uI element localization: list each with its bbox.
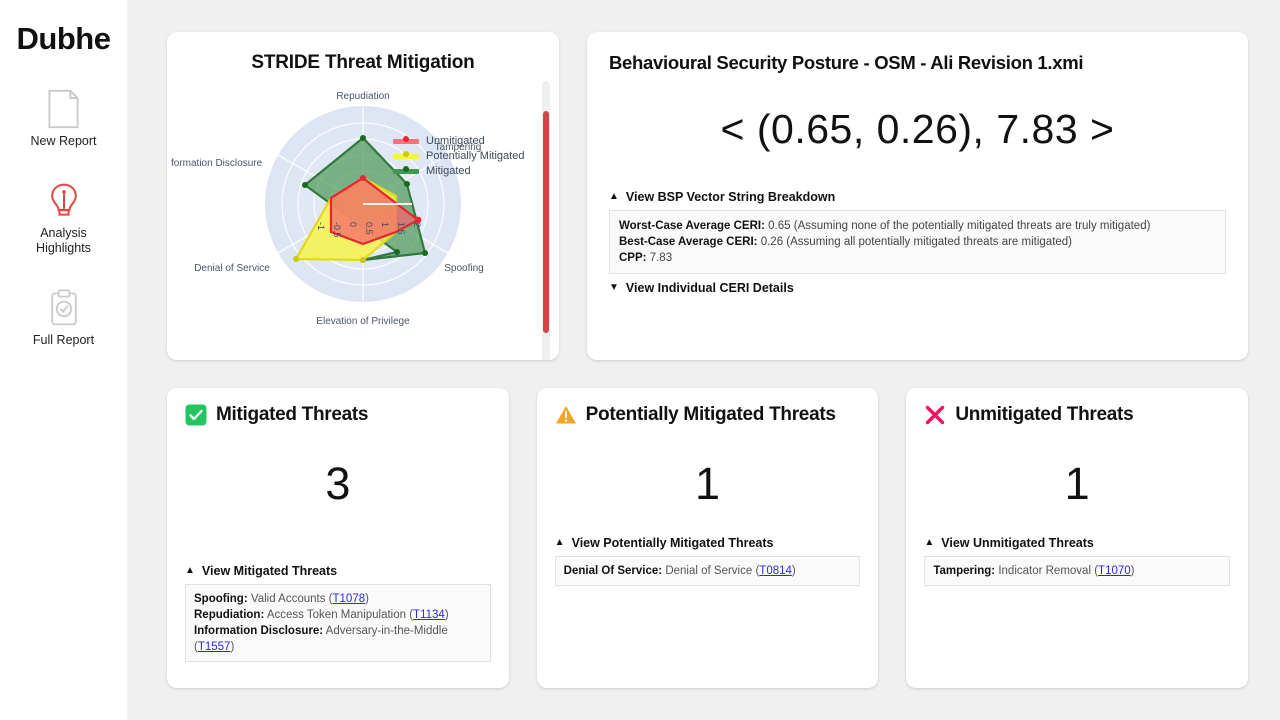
threat-name: Denial of Service: [665, 565, 752, 577]
main-content: STRIDE Threat Mitigation: [127, 0, 1280, 720]
warning-triangle-icon: [555, 404, 577, 426]
bsp-title: Behavioural Security Posture - OSM - Ali…: [609, 52, 1226, 74]
list-item: Spoofing: Valid Accounts (T1078): [194, 591, 482, 607]
list-item: Tampering: Indicator Removal (T1070): [933, 563, 1221, 579]
triangle-up-icon: ▲: [555, 538, 565, 548]
bsp-breakdown-row: CPP: 7.83: [619, 250, 1216, 266]
threat-category: Information Disclosure: [194, 625, 319, 637]
toggle-label: View Mitigated Threats: [202, 564, 337, 578]
sidebar-item-label-line1: Analysis: [40, 226, 87, 240]
toggle-label: View Individual CERI Details: [626, 281, 794, 295]
bsp-metric-label: CPP: [619, 252, 643, 264]
card-title: Mitigated Threats: [216, 404, 368, 426]
unmitigated-threats-card: Unmitigated Threats 1 ▲ View Unmitigated…: [906, 388, 1248, 688]
chart-scrollbar-track[interactable]: [542, 81, 550, 360]
bsp-metric-value: 0.65: [768, 220, 790, 232]
svg-text:-1: -1: [316, 222, 326, 230]
bsp-card: Behavioural Security Posture - OSM - Ali…: [587, 32, 1248, 360]
bsp-metric-label: Worst-Case Average CERI: [619, 220, 761, 232]
bsp-breakdown-section: ▲ View BSP Vector String Breakdown Worst…: [609, 190, 1226, 295]
legend-label: Potentially Mitigated: [426, 150, 524, 162]
toggle-view-mitigated-threats[interactable]: ▲ View Mitigated Threats: [185, 564, 491, 578]
legend-swatch-icon: [393, 154, 419, 159]
chart-scrollbar-thumb[interactable]: [543, 111, 549, 333]
threat-name: Indicator Removal: [998, 565, 1091, 577]
threat-count: 3: [185, 458, 491, 510]
card-footer: ▲ View Unmitigated Threats Tampering: In…: [924, 536, 1230, 602]
legend-swatch-icon: [393, 139, 419, 144]
document-icon: [45, 89, 83, 129]
threat-category: Repudiation: [194, 609, 260, 621]
threat-list: Spoofing: Valid Accounts (T1078) Repudia…: [185, 584, 491, 662]
list-item: Information Disclosure: Adversary-in-the…: [194, 623, 482, 655]
legend-label: Mitigated: [426, 165, 471, 177]
threat-name: Adversary-in-the-Middle: [326, 625, 448, 637]
triangle-up-icon: ▲: [185, 566, 195, 576]
top-row: STRIDE Threat Mitigation: [167, 32, 1248, 360]
card-header: Mitigated Threats: [185, 404, 491, 426]
technique-link[interactable]: T1070: [1098, 565, 1131, 577]
svg-text:2: 2: [412, 222, 422, 227]
bsp-breakdown-row: Worst-Case Average CERI: 0.65 (Assuming …: [619, 218, 1216, 234]
svg-text:1: 1: [380, 222, 390, 227]
toggle-label: View Unmitigated Threats: [941, 536, 1094, 550]
threat-list: Denial Of Service: Denial of Service (T0…: [555, 556, 861, 586]
check-square-icon: [185, 404, 207, 426]
svg-text:Spoofing: Spoofing: [444, 263, 483, 274]
mitigated-threats-card: Mitigated Threats 3 ▲ View Mitigated Thr…: [167, 388, 509, 688]
clipboard-check-icon: [45, 288, 83, 328]
bsp-metric-note: (Assuming all potentially mitigated thre…: [786, 236, 1072, 248]
technique-link[interactable]: T0814: [759, 565, 792, 577]
sidebar-item-analysis-highlights[interactable]: Analysis Highlights: [0, 181, 127, 256]
toggle-label: View BSP Vector String Breakdown: [626, 190, 835, 204]
lightbulb-icon: [45, 181, 83, 221]
bsp-breakdown-panel: Worst-Case Average CERI: 0.65 (Assuming …: [609, 210, 1226, 274]
threat-list: Tampering: Indicator Removal (T1070): [924, 556, 1230, 586]
sidebar-item-label: Analysis Highlights: [36, 226, 91, 256]
bsp-metric-note: (Assuming none of the potentially mitiga…: [794, 220, 1151, 232]
threat-count: 1: [924, 458, 1230, 510]
svg-text:Denial of Service: Denial of Service: [194, 263, 270, 274]
threat-name: Valid Accounts: [251, 593, 326, 605]
card-footer: ▲ View Mitigated Threats Spoofing: Valid…: [185, 564, 491, 688]
technique-link[interactable]: T1557: [198, 641, 231, 653]
bsp-metric-value: 7.83: [650, 252, 672, 264]
sidebar-item-label-line2: Highlights: [36, 241, 91, 255]
bsp-metric-label: Best-Case Average CERI: [619, 236, 754, 248]
x-mark-icon: [924, 404, 946, 426]
triangle-up-icon: ▲: [924, 538, 934, 548]
svg-text:0: 0: [348, 222, 358, 227]
sidebar-item-full-report[interactable]: Full Report: [0, 288, 127, 348]
toggle-individual-ceri-details[interactable]: ▼ View Individual CERI Details: [609, 281, 1226, 295]
card-header: Unmitigated Threats: [924, 404, 1230, 426]
svg-text:Elevation of Privilege: Elevation of Privilege: [316, 316, 410, 327]
legend-item-unmitigated[interactable]: Unmitigated: [393, 134, 524, 148]
chart-legend: Unmitigated Potentially Mitigated Mitiga…: [393, 134, 524, 179]
threat-category: Denial Of Service: [564, 565, 659, 577]
toggle-view-potentially-mitigated-threats[interactable]: ▲ View Potentially Mitigated Threats: [555, 536, 861, 550]
potentially-mitigated-threats-card: Potentially Mitigated Threats 1 ▲ View P…: [537, 388, 879, 688]
toggle-view-unmitigated-threats[interactable]: ▲ View Unmitigated Threats: [924, 536, 1230, 550]
chart-title: STRIDE Threat Mitigation: [167, 32, 559, 74]
threat-category: Spoofing: [194, 593, 244, 605]
app-brand-title: Dubhe: [0, 21, 127, 57]
svg-text:formation Disclosure: formation Disclosure: [171, 158, 263, 169]
triangle-up-icon: ▲: [609, 192, 619, 202]
threat-count: 1: [555, 458, 861, 510]
radar-plot-svg: -1 -0.5 0 0.5 1 1.5 2 Repudiation Tamper…: [167, 74, 559, 349]
legend-label: Unmitigated: [426, 135, 485, 147]
svg-text:Repudiation: Repudiation: [336, 91, 389, 102]
sidebar-item-label: Full Report: [33, 333, 94, 348]
threat-name: Access Token Manipulation: [267, 609, 406, 621]
card-title: Potentially Mitigated Threats: [586, 404, 836, 426]
radar-chart[interactable]: -1 -0.5 0 0.5 1 1.5 2 Repudiation Tamper…: [167, 74, 559, 349]
stride-chart-card: STRIDE Threat Mitigation: [167, 32, 559, 360]
card-header: Potentially Mitigated Threats: [555, 404, 861, 426]
bsp-metric-value: 0.26: [761, 236, 783, 248]
svg-text:-0.5: -0.5: [332, 222, 342, 238]
sidebar: Dubhe New Report Analysis Highlights: [0, 0, 127, 720]
svg-text:0.5: 0.5: [364, 222, 374, 235]
toggle-bsp-vector-breakdown[interactable]: ▲ View BSP Vector String Breakdown: [609, 190, 1226, 204]
svg-text:1.5: 1.5: [396, 222, 406, 235]
legend-swatch-icon: [393, 169, 419, 174]
legend-item-potentially-mitigated[interactable]: Potentially Mitigated: [393, 149, 524, 163]
threat-cards-row: Mitigated Threats 3 ▲ View Mitigated Thr…: [167, 388, 1248, 688]
bsp-breakdown-row: Best-Case Average CERI: 0.26 (Assuming a…: [619, 234, 1216, 250]
card-footer: ▲ View Potentially Mitigated Threats Den…: [555, 536, 861, 602]
toggle-label: View Potentially Mitigated Threats: [572, 536, 774, 550]
bsp-vector-string: < (0.65, 0.26), 7.83 >: [609, 106, 1226, 153]
legend-item-mitigated[interactable]: Mitigated: [393, 164, 524, 178]
sidebar-item-label: New Report: [31, 134, 97, 149]
sidebar-item-new-report[interactable]: New Report: [0, 89, 127, 149]
list-item: Denial Of Service: Denial of Service (T0…: [564, 563, 852, 579]
threat-category: Tampering: [933, 565, 991, 577]
technique-link[interactable]: T1078: [333, 593, 366, 605]
card-title: Unmitigated Threats: [955, 404, 1133, 426]
triangle-down-icon: ▼: [609, 283, 619, 293]
technique-link[interactable]: T1134: [413, 609, 445, 621]
list-item: Repudiation: Access Token Manipulation (…: [194, 607, 482, 623]
